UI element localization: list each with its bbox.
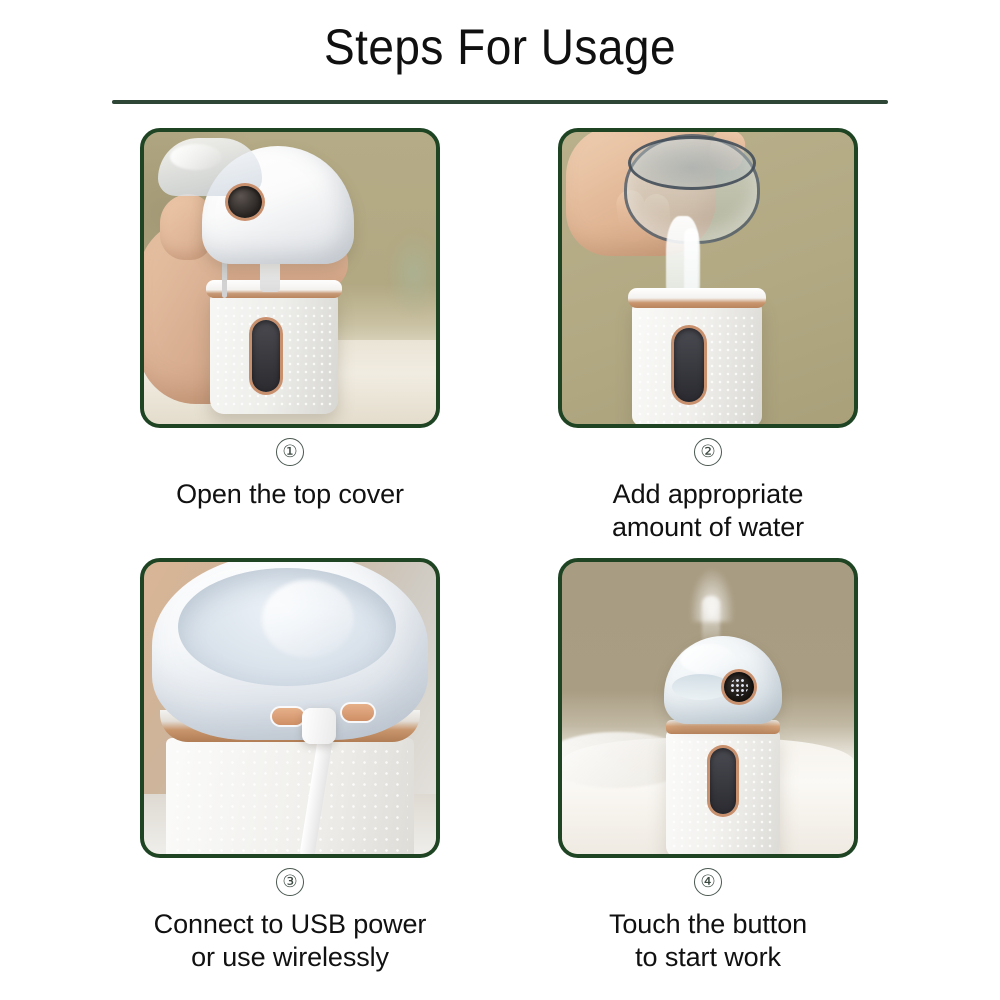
step-number-circle: ② [694,438,722,466]
step-caption-4: Touch the button to start work [558,908,858,974]
step-number-circle: ③ [276,868,304,896]
photo-scene-2 [562,132,854,424]
perforation-pattern [172,746,408,854]
step-caption-2: Add appropriate amount of water [558,478,858,544]
page-title: Steps For Usage [40,18,960,76]
photo-scene-1 [144,132,436,424]
usb-plug [302,708,336,744]
pouring-water-photo [558,128,858,428]
usb-cable-connection-photo [140,558,440,858]
caption-line: Connect to USB power [140,908,440,941]
lid-stem-secondary [222,260,227,298]
dome-highlight [262,580,354,658]
step-number-3: ③ [140,868,440,902]
hand-lifting-top-cover-photo [140,128,440,428]
caption-line: to start work [558,941,858,974]
glass-rim [628,136,756,190]
caption-line: Open the top cover [140,478,440,511]
step-number-circle: ④ [694,868,722,896]
title-divider [112,100,888,104]
step-number-circle: ① [276,438,304,466]
steps-grid: ① Open the top cover [0,128,1000,1000]
step-card-2: ② Add appropriate amount of water [558,128,858,544]
step-caption-1: Open the top cover [140,478,440,511]
dome-highlight [680,644,736,674]
lid-port [228,186,262,218]
humidifier-misting-photo [558,558,858,858]
steps-for-usage-infographic: Steps For Usage [0,0,1000,1000]
caption-line: amount of water [558,511,858,544]
step-card-3: ③ Connect to USB power or use wirelessly [140,558,440,974]
photo-scene-3 [144,562,436,854]
brand-badge [674,328,704,402]
caption-line: Touch the button [558,908,858,941]
header: Steps For Usage [0,0,1000,112]
step-number-2: ② [558,438,858,472]
display-indicator-icon [730,678,748,696]
rose-gold-rim [628,288,766,308]
step-number-4: ④ [558,868,858,902]
mist-outlet [672,674,730,700]
caption-line: Add appropriate [558,478,858,511]
blurred-plant [386,230,436,316]
step-card-1: ① Open the top cover [140,128,440,511]
caption-line: or use wirelessly [140,941,440,974]
step-caption-3: Connect to USB power or use wirelessly [140,908,440,974]
contact-pad-right [342,704,374,721]
photo-scene-4 [562,562,854,854]
step-number-1: ① [140,438,440,472]
lid-highlight [170,144,222,170]
step-card-4: ④ Touch the button to start work [558,558,858,974]
contact-pad-left [272,708,304,725]
brand-badge [252,320,280,392]
brand-badge [710,748,736,814]
